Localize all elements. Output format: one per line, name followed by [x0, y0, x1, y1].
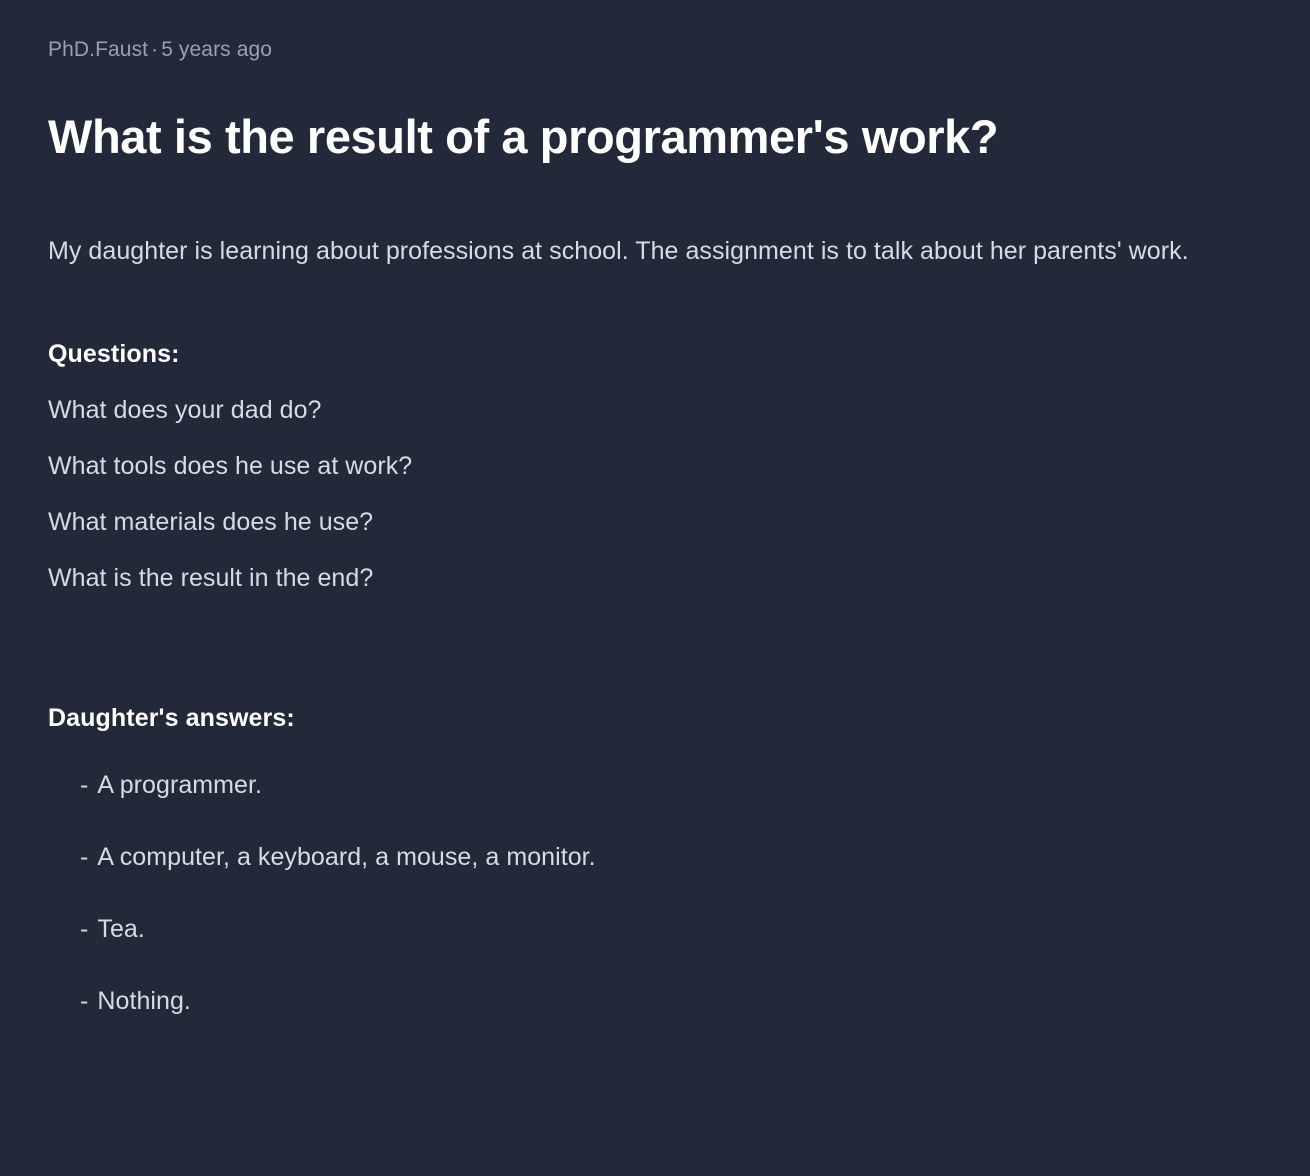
byline-separator: ·	[148, 38, 161, 61]
bullet-dash: -	[80, 915, 88, 943]
list-item: -A programmer.	[48, 770, 1262, 800]
questions-section: Questions: What does your dad do? What t…	[48, 326, 1262, 606]
post-author[interactable]: PhD.Faust	[48, 38, 148, 61]
list-item-label: Tea.	[97, 915, 144, 943]
questions-heading: Questions:	[48, 326, 1262, 382]
question-line: What is the result in the end?	[48, 550, 1262, 606]
question-line: What tools does he use at work?	[48, 438, 1262, 494]
question-line: What does your dad do?	[48, 382, 1262, 438]
answers-section: Daughter's answers: -A programmer. -A co…	[48, 690, 1262, 1016]
bullet-dash: -	[80, 843, 88, 871]
answers-heading: Daughter's answers:	[48, 690, 1262, 746]
list-item-label: Nothing.	[97, 987, 191, 1015]
bullet-dash: -	[80, 987, 88, 1015]
post-byline: PhD.Faust·5 years ago	[48, 36, 1262, 64]
list-item-label: A programmer.	[97, 771, 262, 799]
bullet-dash: -	[80, 771, 88, 799]
question-line: What materials does he use?	[48, 494, 1262, 550]
post-container: PhD.Faust·5 years ago What is the result…	[0, 0, 1310, 1176]
list-item: -Tea.	[48, 914, 1262, 944]
answers-list: -A programmer. -A computer, a keyboard, …	[48, 770, 1262, 1016]
post-timestamp: 5 years ago	[161, 38, 272, 61]
list-item: -Nothing.	[48, 986, 1262, 1016]
list-item: -A computer, a keyboard, a mouse, a moni…	[48, 842, 1262, 872]
page-title: What is the result of a programmer's wor…	[48, 102, 1158, 172]
intro-paragraph: My daughter is learning about profession…	[48, 224, 1262, 279]
list-item-label: A computer, a keyboard, a mouse, a monit…	[97, 843, 595, 871]
